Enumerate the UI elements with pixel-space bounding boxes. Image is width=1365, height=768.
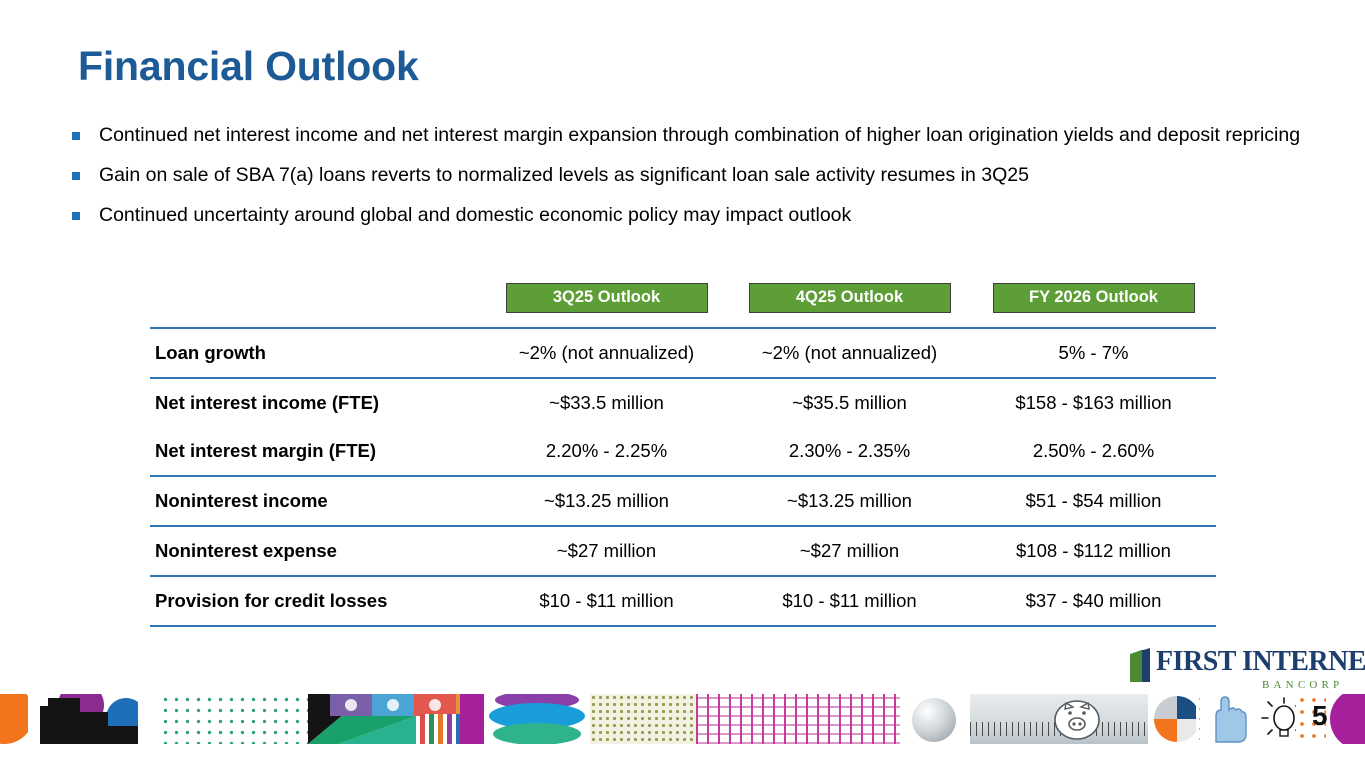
- footer-tile-magenta-block: [460, 694, 484, 744]
- footer-tile-olive-grid: [590, 694, 696, 744]
- bullet-text: Continued net interest income and net in…: [99, 123, 1300, 147]
- row-value-3q25: ~$13.25 million: [485, 477, 728, 526]
- row-value-fy2026: $51 - $54 million: [971, 477, 1216, 526]
- bullet-text: Gain on sale of SBA 7(a) loans reverts t…: [99, 163, 1029, 187]
- logo-subtitle: BANCORP: [1262, 679, 1343, 691]
- list-item: Continued net interest income and net in…: [72, 123, 1302, 147]
- table-row: Net interest income (FTE) ~$33.5 million…: [150, 379, 1216, 427]
- table-row: Provision for credit losses $10 - $11 mi…: [150, 577, 1216, 626]
- row-value-3q25: ~$33.5 million: [485, 379, 728, 427]
- footer-tile-piggy-bank-icon: [1040, 694, 1114, 744]
- table-row: Noninterest expense ~$27 million ~$27 mi…: [150, 527, 1216, 576]
- row-value-3q25: 2.20% - 2.25%: [485, 427, 728, 476]
- footer-tile-sphere: [900, 694, 972, 744]
- logo-wordmark: FIRST INTERNET: [1156, 646, 1365, 678]
- row-value-4q25: ~$35.5 million: [728, 379, 971, 427]
- table-header-row: 3Q25 Outlook 4Q25 Outlook FY 2026 Outloo…: [150, 283, 1216, 328]
- column-header-chip: FY 2026 Outlook: [993, 283, 1195, 313]
- footer-tile-magenta-circle: [1326, 694, 1365, 744]
- table-header-4q25: 4Q25 Outlook: [728, 283, 971, 328]
- table-row: Noninterest income ~$13.25 million ~$13.…: [150, 477, 1216, 526]
- row-value-fy2026: 2.50% - 2.60%: [971, 427, 1216, 476]
- column-header-chip: 3Q25 Outlook: [506, 283, 708, 313]
- row-label: Noninterest income: [150, 477, 485, 526]
- square-bullet-icon: [72, 212, 80, 220]
- row-value-4q25: ~$13.25 million: [728, 477, 971, 526]
- table-row: Net interest margin (FTE) 2.20% - 2.25% …: [150, 427, 1216, 476]
- bullet-list: Continued net interest income and net in…: [72, 123, 1302, 243]
- row-value-4q25: 2.30% - 2.35%: [728, 427, 971, 476]
- outlook-table: 3Q25 Outlook 4Q25 Outlook FY 2026 Outloo…: [150, 283, 1216, 627]
- table-row: Loan growth ~2% (not annualized) ~2% (no…: [150, 329, 1216, 378]
- column-header-chip: 4Q25 Outlook: [749, 283, 951, 313]
- footer-tile-binary: [696, 694, 914, 744]
- footer-tile-zigzag: [28, 694, 138, 744]
- row-label: Provision for credit losses: [150, 577, 485, 626]
- footer-tile-green-dots: [160, 694, 308, 744]
- row-value-3q25: ~$27 million: [485, 527, 728, 576]
- row-value-fy2026: $37 - $40 million: [971, 577, 1216, 626]
- row-value-fy2026: $108 - $112 million: [971, 527, 1216, 576]
- row-value-3q25: $10 - $11 million: [485, 577, 728, 626]
- row-value-4q25: ~2% (not annualized): [728, 329, 971, 378]
- company-logo: FIRST INTERNET BANCORP: [1128, 646, 1356, 692]
- page-title: Financial Outlook: [78, 43, 419, 90]
- table-header-3q25: 3Q25 Outlook: [485, 283, 728, 328]
- list-item: Gain on sale of SBA 7(a) loans reverts t…: [72, 163, 1302, 187]
- square-bullet-icon: [72, 172, 80, 180]
- row-label: Net interest margin (FTE): [150, 427, 485, 476]
- table-header-fy2026: FY 2026 Outlook: [971, 283, 1216, 328]
- row-label: Loan growth: [150, 329, 485, 378]
- page-number: 5: [1312, 700, 1328, 732]
- row-value-fy2026: 5% - 7%: [971, 329, 1216, 378]
- row-value-3q25: ~2% (not annualized): [485, 329, 728, 378]
- square-bullet-icon: [72, 132, 80, 140]
- footer-tile-hand-icon: [1200, 694, 1258, 744]
- row-value-4q25: ~$27 million: [728, 527, 971, 576]
- list-item: Continued uncertainty around global and …: [72, 203, 1302, 227]
- row-label: Net interest income (FTE): [150, 379, 485, 427]
- table-header-blank: [150, 283, 485, 328]
- row-label: Noninterest expense: [150, 527, 485, 576]
- row-value-fy2026: $158 - $163 million: [971, 379, 1216, 427]
- first-internet-monogram-icon: [1128, 648, 1158, 682]
- footer-tile-lens-stack: [484, 694, 590, 744]
- row-value-4q25: $10 - $11 million: [728, 577, 971, 626]
- table-divider: [150, 626, 1216, 627]
- decorative-footer-strip: [0, 694, 1365, 744]
- bullet-text: Continued uncertainty around global and …: [99, 203, 851, 227]
